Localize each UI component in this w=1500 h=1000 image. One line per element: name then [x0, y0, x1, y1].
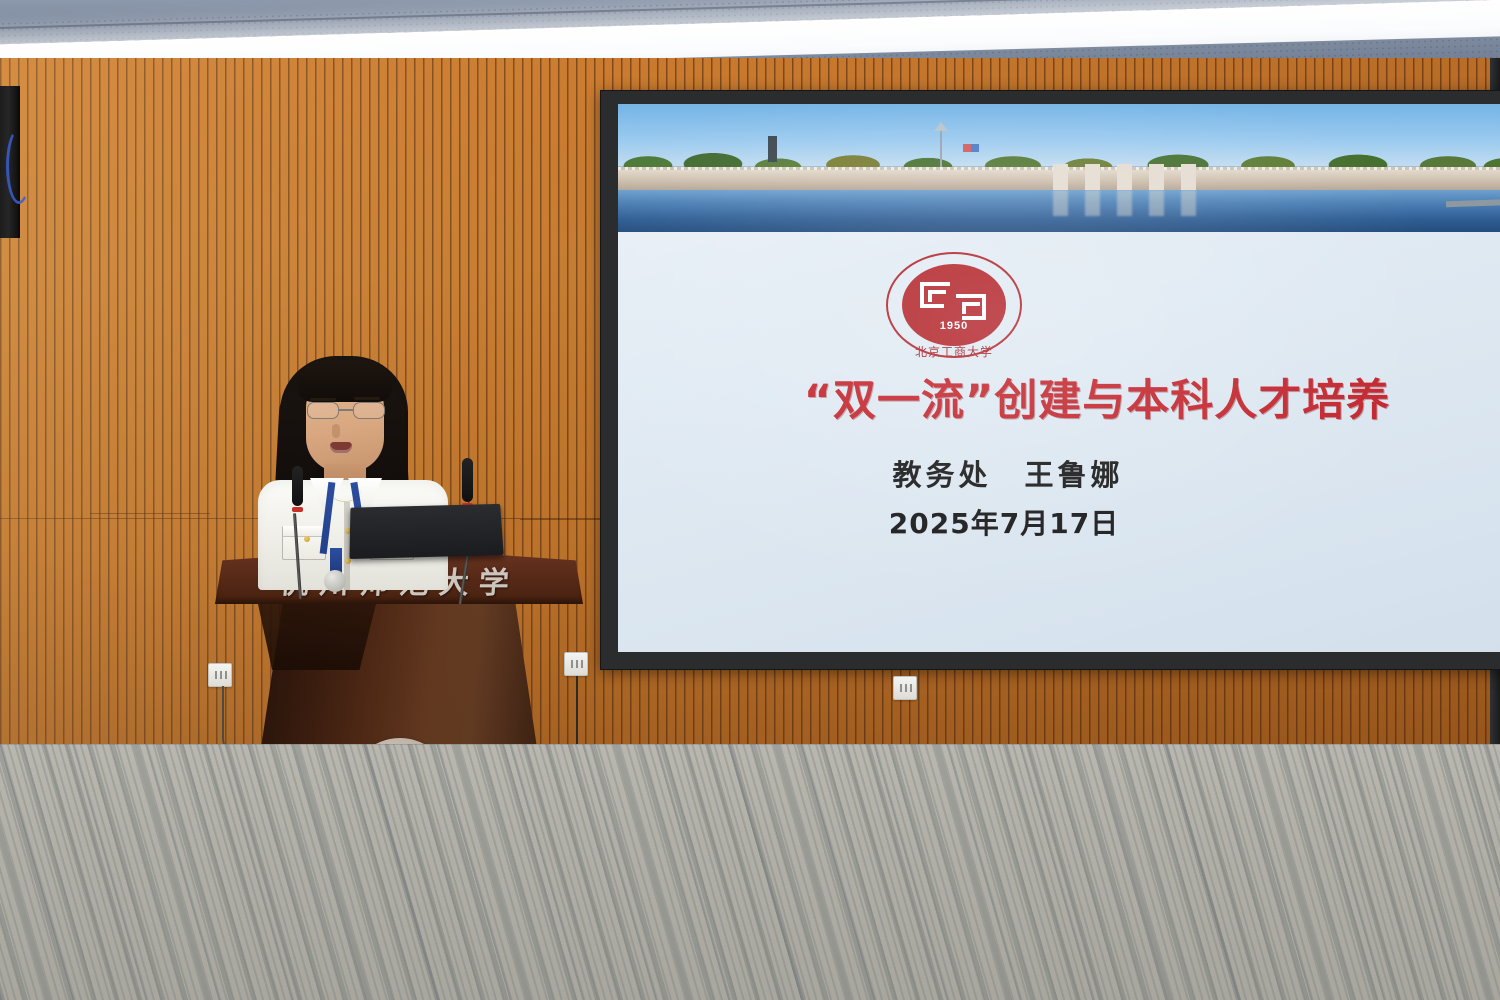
logo-founding-year: 1950	[886, 320, 1022, 332]
slide-title: “双一流”创建与本科人才培养	[618, 366, 1500, 428]
hair-fringe	[298, 360, 392, 402]
photo-lake	[618, 190, 1500, 232]
photo-tower	[768, 136, 777, 162]
microphone-left[interactable]	[292, 466, 303, 599]
slide-presenter: 教务处 王鲁娜	[618, 452, 1500, 494]
presentation-room-scene: 1950 北京工商大学 “双一流”创建与本科人才培养 教务处 王鲁娜 2025年…	[0, 0, 1500, 1000]
blouse-pocket-left	[282, 526, 326, 560]
logo-knot-emblem	[918, 278, 990, 326]
logo-chinese-name: 北京工商大学	[886, 343, 1022, 360]
slide-date: 2025年7月17日	[618, 502, 1500, 542]
speaker-mouth	[330, 442, 352, 453]
photo-flag	[963, 144, 979, 152]
presenter-laptop[interactable]	[349, 504, 503, 559]
blue-arc-accent-icon	[6, 128, 32, 204]
photo-antenna-mast	[940, 126, 942, 168]
badge-disc	[324, 570, 346, 592]
glasses-icon	[304, 402, 388, 420]
wall-outlet-right[interactable]	[893, 676, 917, 700]
slide-banner-photo	[618, 104, 1500, 232]
projection-screen-surface[interactable]: 1950 北京工商大学 “双一流”创建与本科人才培养 教务处 王鲁娜 2025年…	[618, 104, 1500, 652]
university-logo: 1950 北京工商大学	[886, 252, 1022, 358]
carpet-floor	[0, 744, 1500, 1000]
